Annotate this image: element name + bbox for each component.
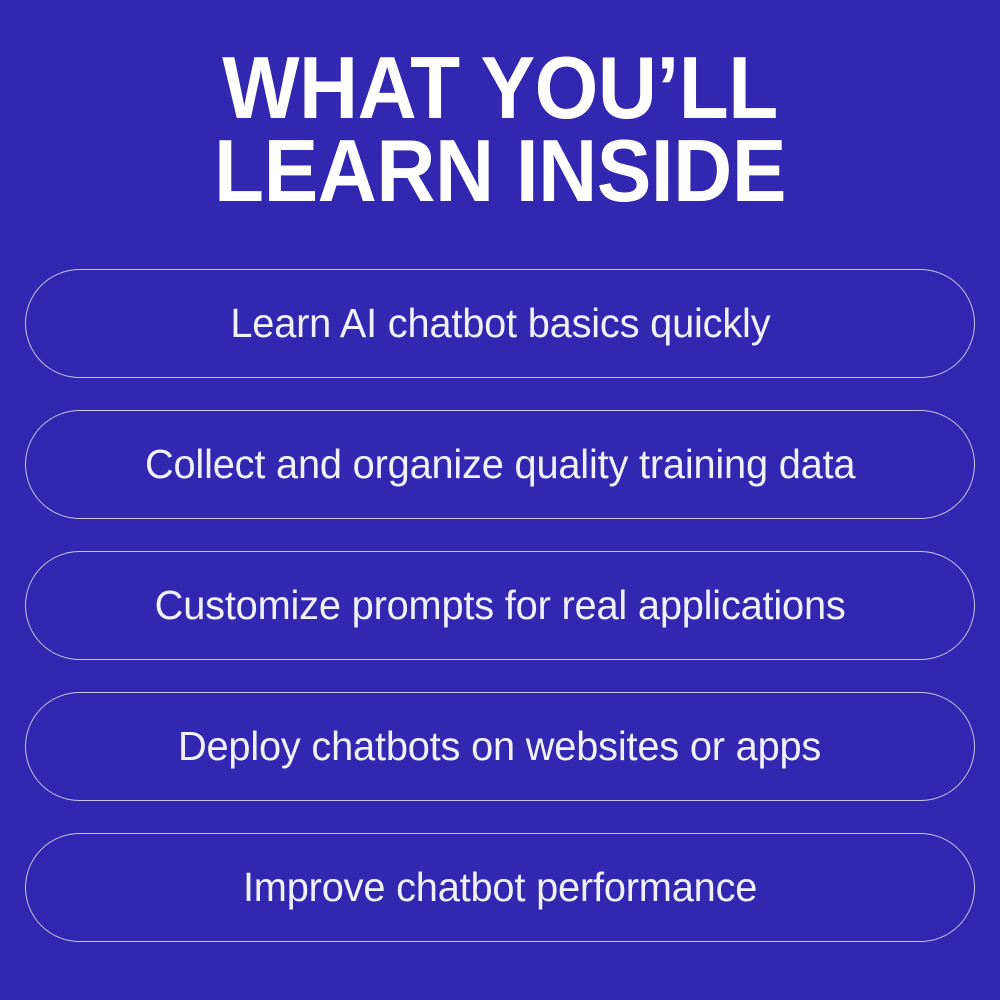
page-title: WHAT YOU’LL LEARN INSIDE <box>35 46 965 212</box>
learning-point-item-1[interactable]: Learn AI chatbot basics quickly <box>25 269 975 378</box>
learning-point-item-5[interactable]: Improve chatbot performance <box>25 833 975 942</box>
learning-point-label: Learn AI chatbot basics quickly <box>230 301 770 346</box>
learning-point-item-4[interactable]: Deploy chatbots on websites or apps <box>25 692 975 801</box>
learning-point-label: Improve chatbot performance <box>243 865 757 910</box>
learning-point-label: Collect and organize quality training da… <box>145 442 855 487</box>
page-title-line-1: WHAT YOU’LL <box>35 46 965 129</box>
learning-point-label: Customize prompts for real applications <box>155 583 846 628</box>
learning-point-item-2[interactable]: Collect and organize quality training da… <box>25 410 975 519</box>
page-title-line-2: LEARN INSIDE <box>35 129 965 212</box>
learning-point-item-3[interactable]: Customize prompts for real applications <box>25 551 975 660</box>
poster-canvas: WHAT YOU’LL LEARN INSIDE Learn AI chatbo… <box>0 0 1000 1000</box>
learning-point-label: Deploy chatbots on websites or apps <box>178 724 821 769</box>
learning-points-list: Learn AI chatbot basics quickly Collect … <box>25 269 975 942</box>
